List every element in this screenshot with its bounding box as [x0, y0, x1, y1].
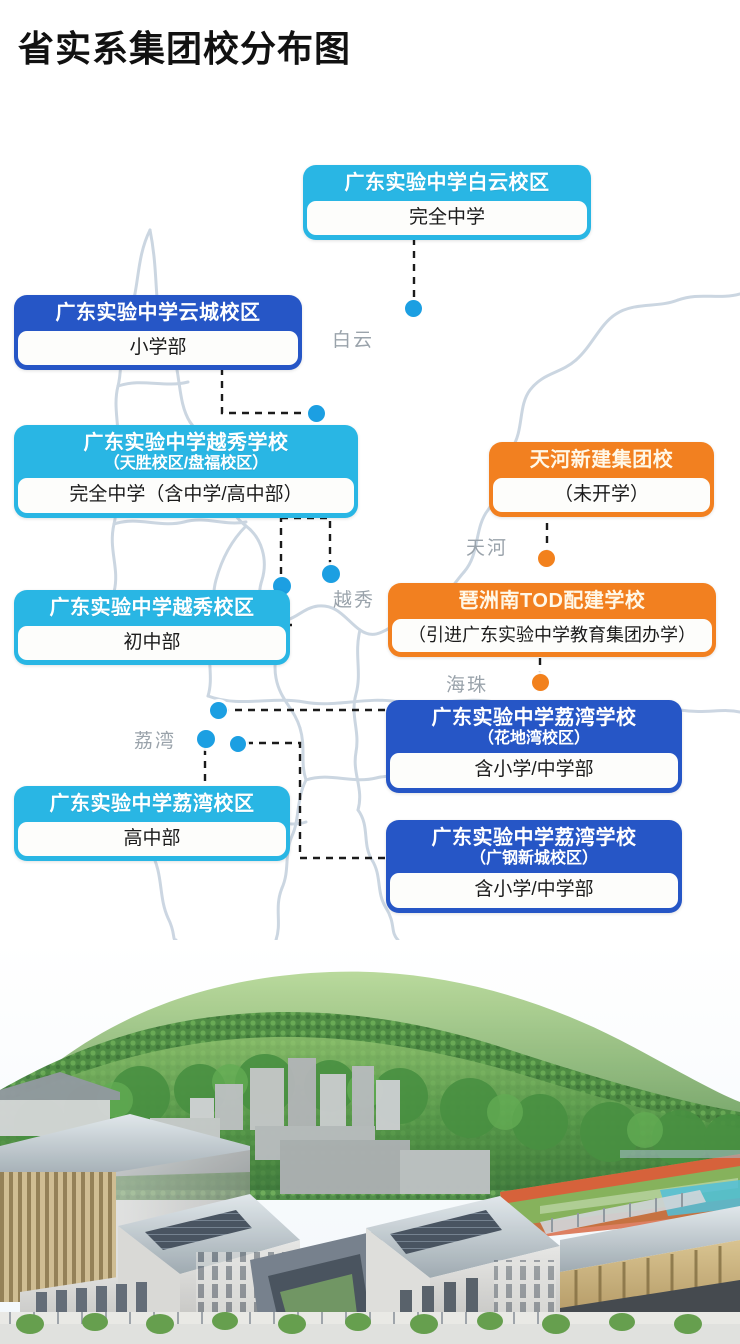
card-liwan-gangang[interactable]: 广东实验中学荔湾学校 （广钢新城校区） 含小学/中学部 — [386, 820, 682, 913]
card-yuexiu-school-title: 广东实验中学越秀学校 — [28, 432, 344, 456]
map-area: 白云 天河 越秀 海珠 荔湾 广东实验中学白云校区 完全中学 广东实验中学云城校… — [0, 110, 740, 940]
district-label-tianhe: 天河 — [466, 533, 508, 560]
campus-photo-illustration — [0, 940, 740, 1344]
card-liwan-campus-head: 广东实验中学荔湾校区 — [18, 790, 286, 822]
card-yuncheng-head: 广东实验中学云城校区 — [18, 299, 298, 331]
campus-aerial-photo — [0, 940, 740, 1344]
card-tianhe-new[interactable]: 天河新建集团校 （未开学） — [489, 442, 714, 517]
card-pazhou-tod-title: 琶洲南TOD配建学校 — [402, 590, 702, 614]
district-label-haizhu: 海珠 — [446, 670, 488, 697]
map-dot-yuncheng[interactable] — [308, 405, 325, 422]
district-label-liwan: 荔湾 — [134, 726, 176, 753]
card-yuexiu-campus-head: 广东实验中学越秀校区 — [18, 594, 286, 626]
map-dot-liwan-huadiwan[interactable] — [210, 702, 227, 719]
card-tianhe-new-head: 天河新建集团校 — [493, 446, 710, 478]
map-dot-liwan-gangang[interactable] — [230, 736, 246, 752]
card-pazhou-tod-head: 琶洲南TOD配建学校 — [392, 587, 712, 619]
card-liwan-huadiwan[interactable]: 广东实验中学荔湾学校 （花地湾校区） 含小学/中学部 — [386, 700, 682, 793]
map-dot-pazhou-tod[interactable] — [532, 674, 549, 691]
card-liwan-gangang-body: 含小学/中学部 — [390, 873, 678, 908]
card-liwan-huadiwan-subtitle: （花地湾校区） — [400, 730, 668, 749]
district-label-baiyun: 白云 — [332, 325, 374, 352]
card-yuexiu-campus[interactable]: 广东实验中学越秀校区 初中部 — [14, 590, 290, 665]
card-liwan-campus[interactable]: 广东实验中学荔湾校区 高中部 — [14, 786, 290, 861]
card-yuncheng-body: 小学部 — [18, 331, 298, 366]
card-baiyun[interactable]: 广东实验中学白云校区 完全中学 — [303, 165, 591, 240]
card-liwan-campus-body: 高中部 — [18, 822, 286, 857]
card-liwan-huadiwan-head: 广东实验中学荔湾学校 （花地湾校区） — [390, 704, 678, 753]
card-liwan-huadiwan-body: 含小学/中学部 — [390, 753, 678, 788]
card-baiyun-title: 广东实验中学白云校区 — [317, 172, 577, 196]
card-pazhou-tod-body: （引进广东实验中学教育集团办学） — [392, 619, 712, 652]
map-dot-tianhe-new[interactable] — [538, 550, 555, 567]
card-yuncheng[interactable]: 广东实验中学云城校区 小学部 — [14, 295, 302, 370]
card-tianhe-new-title: 天河新建集团校 — [503, 449, 700, 473]
infographic-page: 省实系集团校分布图 — [0, 0, 740, 1344]
card-liwan-campus-title: 广东实验中学荔湾校区 — [28, 793, 276, 817]
card-yuexiu-campus-body: 初中部 — [18, 626, 286, 661]
card-baiyun-head: 广东实验中学白云校区 — [307, 169, 587, 201]
map-dot-yuexiu-panfu[interactable] — [322, 565, 340, 583]
card-pazhou-tod[interactable]: 琶洲南TOD配建学校 （引进广东实验中学教育集团办学） — [388, 583, 716, 657]
card-liwan-gangang-subtitle: （广钢新城校区） — [400, 850, 668, 869]
card-tianhe-new-body: （未开学） — [493, 478, 710, 513]
card-baiyun-body: 完全中学 — [307, 201, 587, 236]
card-liwan-gangang-head: 广东实验中学荔湾学校 （广钢新城校区） — [390, 824, 678, 873]
map-dot-baiyun[interactable] — [405, 300, 422, 317]
card-yuexiu-school-head: 广东实验中学越秀学校 （天胜校区/盘福校区） — [18, 429, 354, 478]
card-yuncheng-title: 广东实验中学云城校区 — [28, 302, 288, 326]
page-title: 省实系集团校分布图 — [18, 20, 351, 72]
card-yuexiu-campus-title: 广东实验中学越秀校区 — [28, 597, 276, 621]
map-dot-liwan-campus[interactable] — [197, 730, 215, 748]
card-yuexiu-school-subtitle: （天胜校区/盘福校区） — [28, 455, 344, 474]
card-yuexiu-school[interactable]: 广东实验中学越秀学校 （天胜校区/盘福校区） 完全中学（含中学/高中部） — [14, 425, 358, 518]
card-liwan-gangang-title: 广东实验中学荔湾学校 — [400, 827, 668, 851]
card-liwan-huadiwan-title: 广东实验中学荔湾学校 — [400, 707, 668, 731]
district-label-yuexiu: 越秀 — [333, 585, 375, 612]
card-yuexiu-school-body: 完全中学（含中学/高中部） — [18, 478, 354, 513]
